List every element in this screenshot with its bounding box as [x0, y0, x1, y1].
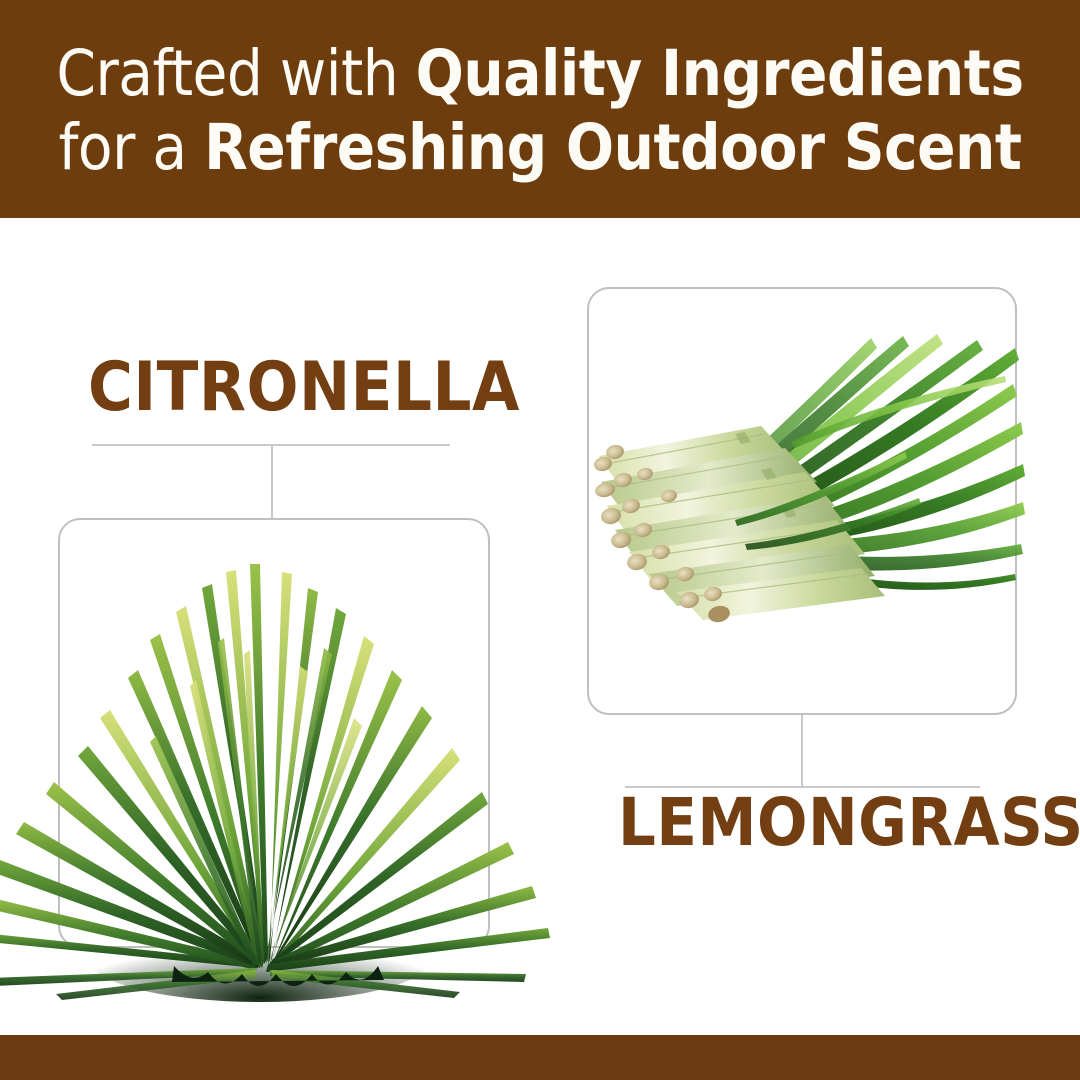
header-line-2-heavy: Refreshing Outdoor Scent	[204, 111, 1021, 184]
header-line-1-light: Crafted with	[56, 37, 415, 110]
header-line-1-heavy: Quality Ingredients	[416, 37, 1024, 110]
infographic-page: Crafted with Quality Ingredients for a R…	[0, 0, 1080, 1080]
lemongrass-image-frame	[587, 287, 1017, 715]
citronella-image-frame	[58, 518, 490, 948]
header-banner: Crafted with Quality Ingredients for a R…	[0, 0, 1080, 218]
header-line-2-light: for a	[58, 111, 204, 184]
header-line-1: Crafted with Quality Ingredients	[56, 37, 1023, 111]
lemongrass-label: LEMONGRASS	[618, 788, 1080, 858]
citronella-label: CITRONELLA	[88, 352, 520, 424]
citronella-connector-vertical	[271, 444, 273, 520]
footer-bar	[0, 1035, 1080, 1080]
header-line-2: for a Refreshing Outdoor Scent	[58, 111, 1021, 185]
lemongrass-connector-vertical	[801, 715, 803, 787]
